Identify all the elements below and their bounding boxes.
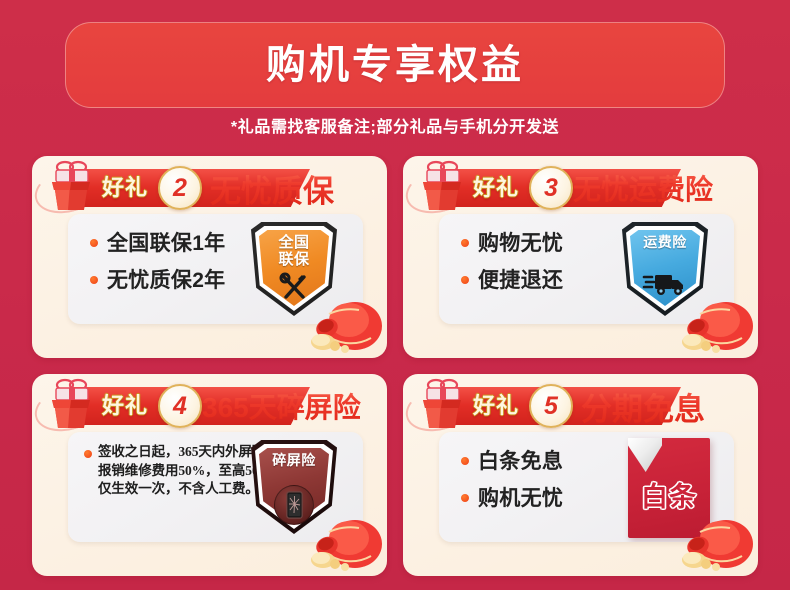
card-header: 好礼 2 无忧质保 [32,156,387,216]
money-bag-icon [678,294,756,356]
benefit-text: 全国联保1年 [107,230,225,257]
promotion-banner: 购机专享权益 *礼品需找客服备注;部分礼品与手机分开发送 [0,0,790,590]
list-item: 白条免息 [461,448,636,475]
benefit-card-shipping-insurance[interactable]: 好礼 3 无忧运费险 购物无忧 便捷退还 [403,156,758,358]
gift-ribbon-label: 好礼 [473,391,519,421]
shield-label: 全国 联保 [251,234,337,268]
gift-box-icon [44,160,106,214]
gift-ribbon-label: 好礼 [102,173,148,203]
card-title: 无忧质保 [210,168,334,208]
gift-number: 3 [544,176,558,201]
page-title: 购机专享权益 [266,45,524,85]
bullet-dot-icon [84,450,92,458]
header: 购机专享权益 *礼品需找客服备注;部分礼品与手机分开发送 [0,0,790,150]
benefit-list: 全国联保1年 无忧质保2年 [90,230,265,304]
gift-ribbon-label: 好礼 [102,391,148,421]
shield-label: 运费险 [622,235,708,250]
benefit-text: 便捷退还 [478,267,563,294]
benefit-list: 白条免息 购机无忧 [461,448,636,522]
benefit-text: 购物无忧 [478,230,563,257]
benefit-card-warranty[interactable]: 好礼 2 无忧质保 全国联保1年 无忧质保2年 [32,156,387,358]
benefit-text: 购机无忧 [478,485,563,512]
list-item: 便捷退还 [461,267,636,294]
bullet-dot-icon [461,494,469,502]
benefit-text: 无忧质保2年 [107,267,225,294]
list-item: 购机无忧 [461,485,636,512]
bullet-dot-icon [461,276,469,284]
bullet-dot-icon [90,239,98,247]
shield-label: 碎屏险 [251,453,337,468]
list-item: 全国联保1年 [90,230,265,257]
gift-number: 5 [544,394,558,419]
benefit-card-screen-insurance[interactable]: 好礼 4 365天碎屏险 签收之日起，365天内外屏破碎可报销维修费用50%，至… [32,374,387,576]
gift-number-badge: 4 [158,384,202,428]
bullet-dot-icon [461,239,469,247]
money-bag-icon [678,512,756,574]
bullet-dot-icon [90,276,98,284]
card-title: 分期免息 [581,386,705,426]
money-bag-icon [307,294,385,356]
benefit-list: 购物无忧 便捷退还 [461,230,636,304]
header-banner: 购机专享权益 [65,22,725,108]
gift-number: 2 [173,176,187,201]
card-header: 好礼 5 分期免息 [403,374,758,434]
benefit-text: 白条免息 [478,448,563,475]
benefit-card-interest-free[interactable]: 好礼 5 分期免息 白条免息 购机无忧 [403,374,758,576]
benefit-card-grid: 好礼 2 无忧质保 全国联保1年 无忧质保2年 [32,156,758,576]
gift-number-badge: 5 [529,384,573,428]
gift-box-icon [415,378,477,432]
money-bag-icon [307,512,385,574]
card-header: 好礼 4 365天碎屏险 [32,374,387,434]
gift-number: 4 [173,394,187,419]
card-header: 好礼 3 无忧运费险 [403,156,758,216]
gift-number-badge: 3 [529,166,573,210]
bullet-dot-icon [461,457,469,465]
gift-box-icon [44,378,106,432]
gift-ribbon-label: 好礼 [473,173,519,203]
list-item: 无忧质保2年 [90,267,265,294]
gift-number-badge: 2 [158,166,202,210]
baitiao-label: 白条 [628,484,710,511]
header-subtitle: *礼品需找客服备注;部分礼品与手机分开发送 [0,113,790,137]
list-item: 购物无忧 [461,230,636,257]
card-title: 无忧运费险 [573,168,713,208]
page-fold-corner [628,438,662,472]
gift-box-icon [415,160,477,214]
card-title: 365天碎屏险 [202,386,361,426]
